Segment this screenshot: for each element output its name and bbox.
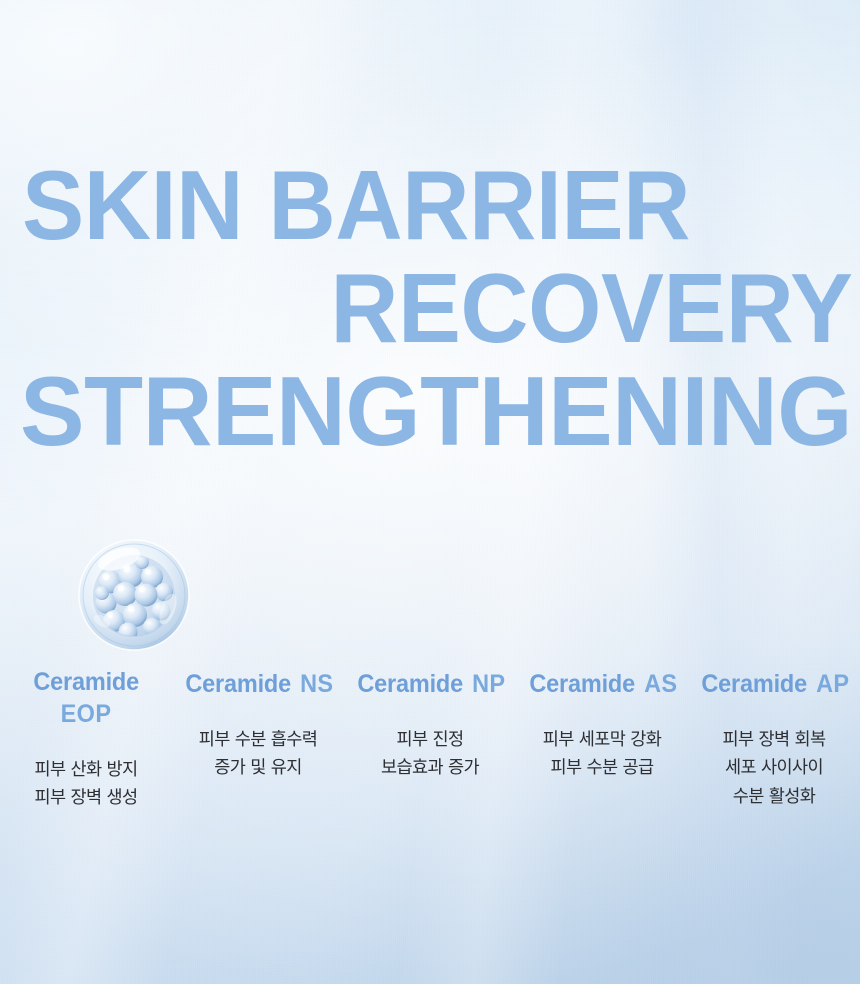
ceramide-label-np: Ceramide bbox=[357, 670, 463, 700]
ceramide-desc-np: 피부 진정 보습효과 증가 bbox=[346, 726, 514, 783]
promo-banner: SKIN BARRIER RECOVERY STRENGTHENING bbox=[0, 0, 860, 984]
desc-line: 증가 및 유지 bbox=[174, 754, 342, 782]
ceramide-label-as: Ceramide bbox=[529, 670, 635, 700]
headline-line-3: STRENGTHENING bbox=[20, 366, 852, 456]
ceramide-column-np: Ceramide NP 피부 진정 보습효과 증가 bbox=[344, 668, 516, 812]
ceramide-desc-ap: 피부 장벽 회복 세포 사이사이 수분 활성화 bbox=[690, 726, 858, 811]
ceramide-code-eop: EOP bbox=[61, 698, 112, 730]
ceramide-columns: Ceramide EOP 피부 산화 방지 피부 장벽 생성 Ceramide … bbox=[0, 668, 860, 812]
ceramide-code-ns: NS bbox=[300, 668, 333, 700]
desc-line: 피부 장벽 회복 bbox=[690, 726, 858, 754]
ceramide-desc-as: 피부 세포막 강화 피부 수분 공급 bbox=[518, 726, 686, 783]
desc-line: 피부 장벽 생성 bbox=[2, 784, 170, 812]
ceramide-column-eop: Ceramide EOP 피부 산화 방지 피부 장벽 생성 bbox=[0, 668, 172, 812]
ceramide-desc-eop: 피부 산화 방지 피부 장벽 생성 bbox=[2, 756, 170, 813]
desc-line: 세포 사이사이 bbox=[690, 754, 858, 782]
headline-line-2: RECOVERY bbox=[330, 263, 852, 353]
ceramide-column-as: Ceramide AS 피부 세포막 강화 피부 수분 공급 bbox=[516, 668, 688, 812]
desc-line: 피부 진정 bbox=[346, 726, 514, 754]
ceramide-code-np: NP bbox=[472, 668, 505, 700]
desc-line: 피부 수분 흡수력 bbox=[174, 726, 342, 754]
desc-line: 피부 세포막 강화 bbox=[518, 726, 686, 754]
ceramide-label-ap: Ceramide bbox=[701, 670, 807, 700]
desc-line: 피부 산화 방지 bbox=[2, 756, 170, 784]
ceramide-capsule-sphere-icon bbox=[76, 537, 192, 653]
ceramide-label-eop: Ceramide bbox=[33, 668, 139, 698]
background-light-streaks bbox=[0, 0, 860, 984]
desc-line: 보습효과 증가 bbox=[346, 754, 514, 782]
ceramide-column-ap: Ceramide AP 피부 장벽 회복 세포 사이사이 수분 활성화 bbox=[688, 668, 860, 812]
ceramide-label-ns: Ceramide bbox=[185, 670, 291, 700]
ceramide-code-ap: AP bbox=[816, 668, 849, 700]
desc-line: 피부 수분 공급 bbox=[518, 754, 686, 782]
ceramide-desc-ns: 피부 수분 흡수력 증가 및 유지 bbox=[174, 726, 342, 783]
background-texture bbox=[0, 0, 860, 984]
desc-line: 수분 활성화 bbox=[690, 783, 858, 811]
ceramide-column-ns: Ceramide NS 피부 수분 흡수력 증가 및 유지 bbox=[172, 668, 344, 812]
headline-line-1: SKIN BARRIER bbox=[22, 160, 690, 250]
ceramide-code-as: AS bbox=[644, 668, 677, 700]
